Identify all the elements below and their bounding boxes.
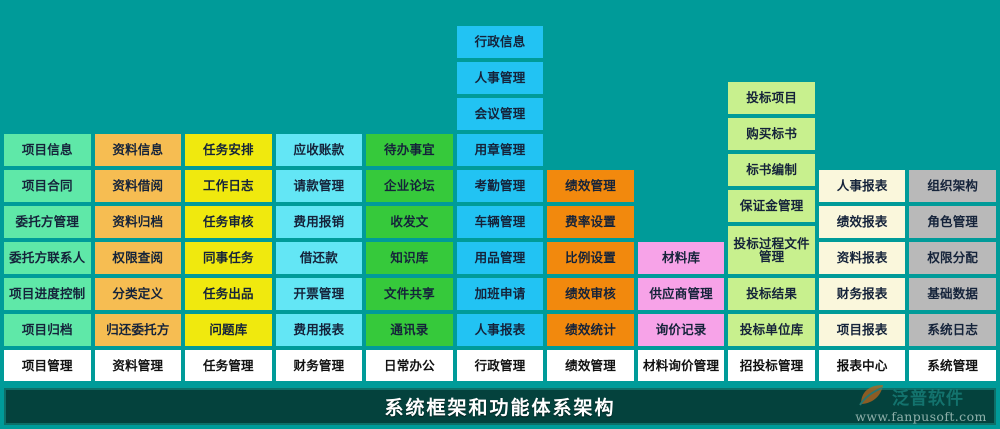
module-item[interactable]: 绩效管理	[547, 170, 634, 202]
grid-spacer	[276, 98, 363, 130]
module-item[interactable]: 绩效统计	[547, 314, 634, 346]
grid-spacer	[909, 62, 996, 94]
module-group-system-management[interactable]: 系统管理	[909, 350, 996, 381]
module-group-daily-office[interactable]: 日常办公	[366, 350, 453, 381]
module-group-material-inquiry-management[interactable]: 材料询价管理	[638, 350, 725, 381]
module-item[interactable]: 人事报表	[819, 170, 906, 202]
grid-spacer	[638, 26, 725, 58]
module-group-project-management[interactable]: 项目管理	[4, 350, 91, 381]
module-item[interactable]: 分类定义	[95, 278, 182, 310]
module-item[interactable]: 资料归档	[95, 206, 182, 238]
grid-spacer	[819, 26, 906, 58]
module-item[interactable]: 用章管理	[457, 134, 544, 166]
grid-spacer	[728, 10, 815, 42]
grid-spacer	[638, 170, 725, 202]
module-item[interactable]: 项目进度控制	[4, 278, 91, 310]
grid-spacer	[4, 98, 91, 130]
module-item[interactable]: 待办事宜	[366, 134, 453, 166]
grid-spacer	[95, 62, 182, 94]
module-item[interactable]: 项目合同	[4, 170, 91, 202]
module-item[interactable]: 权限查阅	[95, 242, 182, 274]
grid-spacer	[185, 98, 272, 130]
module-item[interactable]: 询价记录	[638, 314, 725, 346]
module-item[interactable]: 企业论坛	[366, 170, 453, 202]
grid-spacer	[547, 98, 634, 130]
module-item[interactable]: 问题库	[185, 314, 272, 346]
module-item[interactable]: 绩效审核	[547, 278, 634, 310]
module-item[interactable]: 购买标书	[728, 118, 815, 150]
module-column-administration-management: 行政信息人事管理会议管理用章管理考勤管理车辆管理用品管理加班申请人事报表行政管理	[457, 0, 544, 384]
grid-spacer	[276, 26, 363, 58]
module-item[interactable]: 任务出品	[185, 278, 272, 310]
module-item[interactable]: 通讯录	[366, 314, 453, 346]
module-item[interactable]: 角色管理	[909, 206, 996, 238]
module-group-performance-management[interactable]: 绩效管理	[547, 350, 634, 381]
grid-spacer	[185, 26, 272, 58]
module-item[interactable]: 任务审核	[185, 206, 272, 238]
module-item[interactable]: 用品管理	[457, 242, 544, 274]
module-item[interactable]: 文件共享	[366, 278, 453, 310]
grid-spacer	[819, 134, 906, 166]
grid-spacer	[95, 26, 182, 58]
module-group-finance-management[interactable]: 财务管理	[276, 350, 363, 381]
module-item[interactable]: 项目信息	[4, 134, 91, 166]
grid-spacer	[547, 26, 634, 58]
module-item[interactable]: 同事任务	[185, 242, 272, 274]
grid-spacer	[819, 62, 906, 94]
grid-spacer	[4, 26, 91, 58]
module-item[interactable]: 归还委托方	[95, 314, 182, 346]
module-column-performance-management: 绩效管理费率设置比例设置绩效审核绩效统计绩效管理	[547, 0, 634, 384]
module-column-daily-office: 待办事宜企业论坛收发文知识库文件共享通讯录日常办公	[366, 0, 453, 384]
module-item[interactable]: 投标过程文件管理	[728, 226, 815, 274]
module-item[interactable]: 投标项目	[728, 82, 815, 114]
module-item[interactable]: 组织架构	[909, 170, 996, 202]
module-item[interactable]: 知识库	[366, 242, 453, 274]
module-column-report-center: 人事报表绩效报表资料报表财务报表项目报表报表中心	[819, 0, 906, 384]
module-group-task-management[interactable]: 任务管理	[185, 350, 272, 381]
module-item[interactable]: 车辆管理	[457, 206, 544, 238]
grid-spacer	[4, 62, 91, 94]
module-item[interactable]: 费用报表	[276, 314, 363, 346]
module-item[interactable]: 保证金管理	[728, 190, 815, 222]
module-item[interactable]: 任务安排	[185, 134, 272, 166]
grid-spacer	[909, 26, 996, 58]
module-item[interactable]: 费率设置	[547, 206, 634, 238]
grid-spacer	[638, 134, 725, 166]
page-title: 系统框架和功能体系架构	[384, 393, 615, 420]
grid-spacer	[547, 134, 634, 166]
module-item[interactable]: 材料库	[638, 242, 725, 274]
module-column-bidding-management: 投标项目购买标书标书编制保证金管理投标过程文件管理投标结果投标单位库招投标管理	[728, 0, 815, 384]
module-column-system-management: 组织架构角色管理权限分配基础数据系统日志系统管理	[909, 0, 996, 384]
module-item[interactable]: 权限分配	[909, 242, 996, 274]
module-item[interactable]: 委托方联系人	[4, 242, 91, 274]
grid-spacer	[547, 62, 634, 94]
module-item[interactable]: 资料信息	[95, 134, 182, 166]
module-column-finance-management: 应收账款请款管理费用报销借还款开票管理费用报表财务管理	[276, 0, 363, 384]
module-item[interactable]: 比例设置	[547, 242, 634, 274]
module-column-project-management: 项目信息项目合同委托方管理委托方联系人项目进度控制项目归档项目管理	[4, 0, 91, 384]
module-item[interactable]: 请款管理	[276, 170, 363, 202]
module-grid: 项目信息项目合同委托方管理委托方联系人项目进度控制项目归档项目管理资料信息资料借…	[0, 0, 1000, 384]
grid-spacer	[638, 62, 725, 94]
module-item[interactable]: 财务报表	[819, 278, 906, 310]
grid-spacer	[638, 98, 725, 130]
module-column-material-inquiry-management: 材料库供应商管理询价记录材料询价管理	[638, 0, 725, 384]
module-item[interactable]: 人事报表	[457, 314, 544, 346]
module-item[interactable]: 会议管理	[457, 98, 544, 130]
module-item[interactable]: 投标单位库	[728, 314, 815, 346]
module-item[interactable]: 应收账款	[276, 134, 363, 166]
module-item[interactable]: 系统日志	[909, 314, 996, 346]
module-item[interactable]: 考勤管理	[457, 170, 544, 202]
module-item[interactable]: 供应商管理	[638, 278, 725, 310]
module-item[interactable]: 投标结果	[728, 278, 815, 310]
grid-spacer	[366, 26, 453, 58]
module-column-document-management: 资料信息资料借阅资料归档权限查阅分类定义归还委托方资料管理	[95, 0, 182, 384]
grid-spacer	[95, 98, 182, 130]
module-item[interactable]: 委托方管理	[4, 206, 91, 238]
module-item[interactable]: 加班申请	[457, 278, 544, 310]
module-group-administration-management[interactable]: 行政管理	[457, 350, 544, 381]
module-item[interactable]: 基础数据	[909, 278, 996, 310]
module-column-task-management: 任务安排工作日志任务审核同事任务任务出品问题库任务管理	[185, 0, 272, 384]
module-item[interactable]: 工作日志	[185, 170, 272, 202]
grid-spacer	[728, 46, 815, 78]
module-item[interactable]: 资料借阅	[95, 170, 182, 202]
module-item[interactable]: 绩效报表	[819, 206, 906, 238]
grid-spacer	[366, 98, 453, 130]
module-item[interactable]: 费用报销	[276, 206, 363, 238]
grid-spacer	[909, 98, 996, 130]
architecture-diagram: 项目信息项目合同委托方管理委托方联系人项目进度控制项目归档项目管理资料信息资料借…	[0, 0, 1000, 429]
module-group-bidding-management[interactable]: 招投标管理	[728, 350, 815, 381]
module-item[interactable]: 项目归档	[4, 314, 91, 346]
grid-spacer	[819, 98, 906, 130]
module-item[interactable]: 行政信息	[457, 26, 544, 58]
grid-spacer	[185, 62, 272, 94]
grid-spacer	[366, 62, 453, 94]
module-group-report-center[interactable]: 报表中心	[819, 350, 906, 381]
grid-spacer	[276, 62, 363, 94]
module-group-document-management[interactable]: 资料管理	[95, 350, 182, 381]
module-item[interactable]: 资料报表	[819, 242, 906, 274]
module-item[interactable]: 借还款	[276, 242, 363, 274]
module-item[interactable]: 项目报表	[819, 314, 906, 346]
grid-spacer	[638, 206, 725, 238]
grid-spacer	[909, 134, 996, 166]
module-item[interactable]: 标书编制	[728, 154, 815, 186]
module-item[interactable]: 开票管理	[276, 278, 363, 310]
module-item[interactable]: 人事管理	[457, 62, 544, 94]
bottom-title-banner: 系统框架和功能体系架构	[4, 388, 996, 425]
module-item[interactable]: 收发文	[366, 206, 453, 238]
